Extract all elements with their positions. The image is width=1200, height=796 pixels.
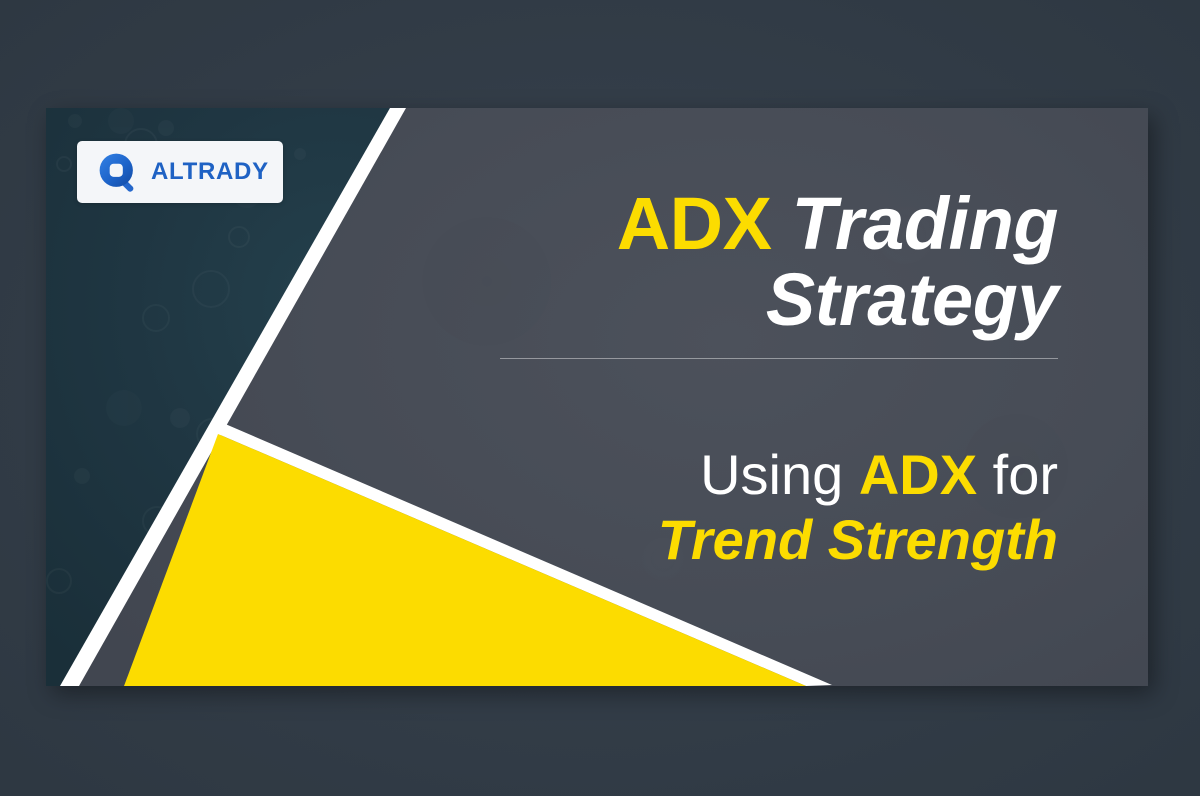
headline-word-trading: Trading xyxy=(792,182,1058,265)
page-stage: ALTRADY ADX Trading Strategy Using ADX f… xyxy=(0,0,1200,796)
subhead-word-for: for xyxy=(993,443,1058,506)
headline-divider xyxy=(500,358,1058,359)
altrady-wordmark: ALTRADY xyxy=(151,160,269,184)
subhead-word-using: Using xyxy=(700,443,843,506)
subhead-line-1: Using ADX for xyxy=(476,443,1058,508)
headline-line-2: Strategy xyxy=(476,262,1058,338)
headline-line-1: ADX Trading xyxy=(476,186,1058,262)
headline-block: ADX Trading Strategy xyxy=(476,186,1058,359)
altrady-logo-badge[interactable]: ALTRADY xyxy=(77,141,283,203)
banner-card: ALTRADY ADX Trading Strategy Using ADX f… xyxy=(46,108,1148,686)
altrady-q-logo-icon xyxy=(97,151,139,193)
headline-word-strategy: Strategy xyxy=(766,258,1058,341)
subhead-accent-adx: ADX xyxy=(859,443,977,506)
headline-accent-adx: ADX xyxy=(617,182,772,265)
subhead-line-2: Trend Strength xyxy=(476,508,1058,573)
subhead-block: Using ADX for Trend Strength xyxy=(476,443,1058,573)
